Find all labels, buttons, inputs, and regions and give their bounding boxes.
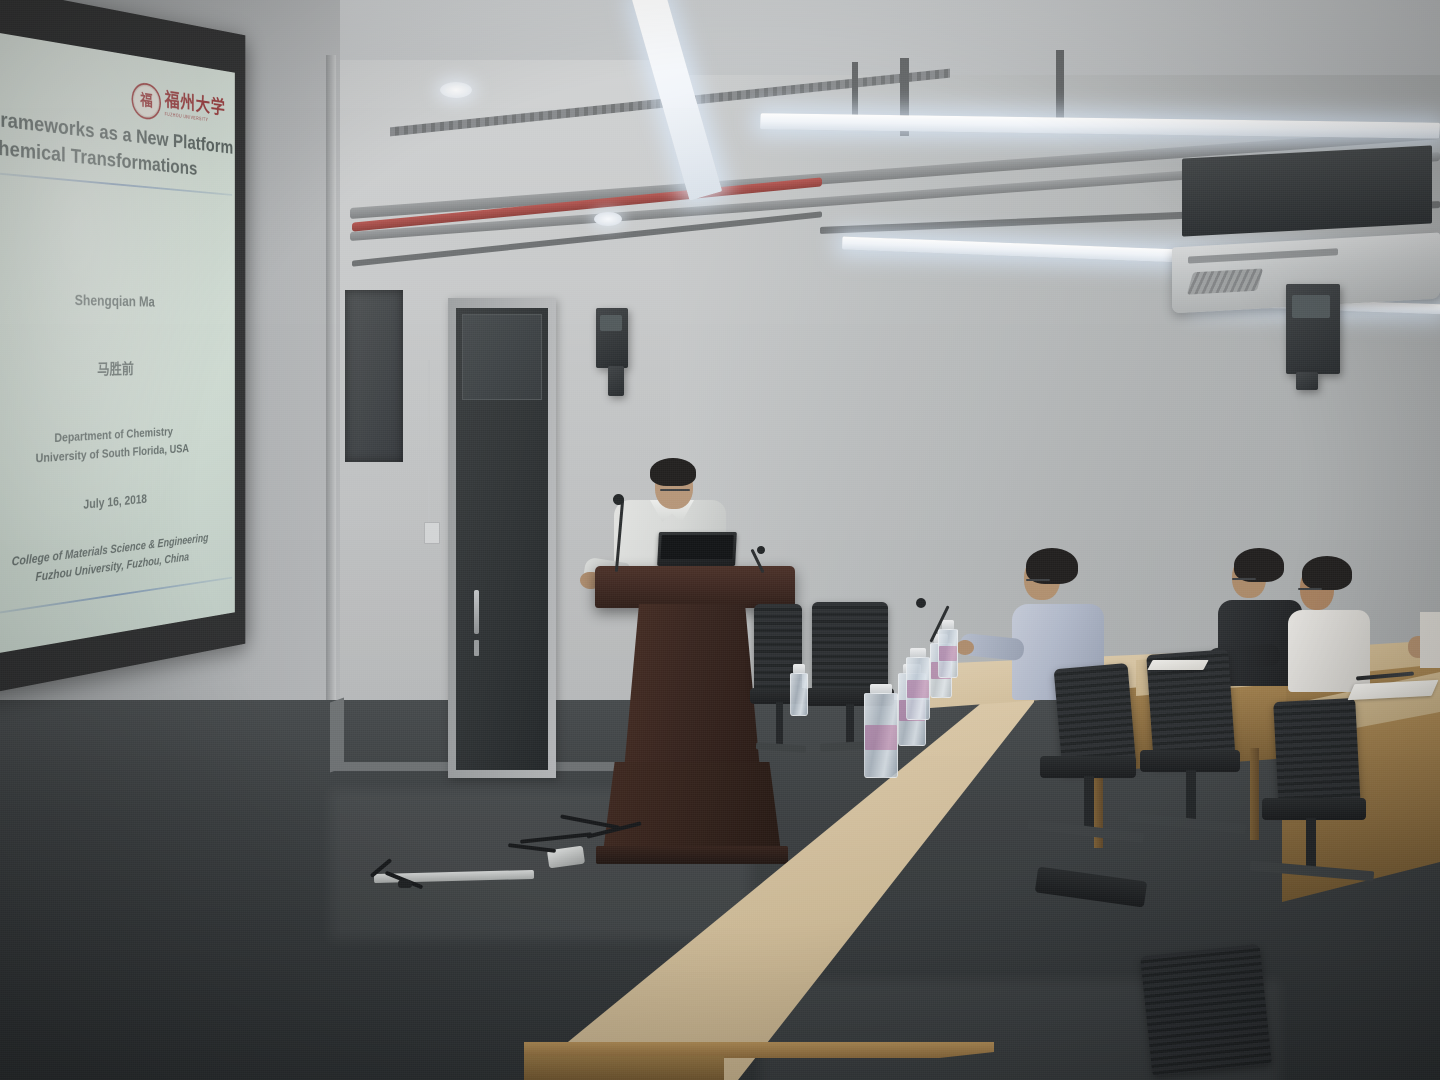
screen-surface: 福 福州大学 FUZHOU UNIVERSITY …nic Frameworks… [0,29,235,657]
notebook[interactable] [1147,660,1208,670]
lectern-top [595,566,795,608]
speaker-grill-icon [1292,295,1330,318]
door[interactable] [448,298,556,778]
wall-socket-plate [424,522,440,544]
audience-glasses-icon [1298,588,1322,590]
audience-glasses-icon [1232,578,1256,580]
table-front-panel [524,1056,724,1080]
laptop[interactable] [657,532,737,566]
water-bottle[interactable] [790,664,808,716]
bottle-label [939,646,957,661]
ceiling-downlight [594,212,622,226]
laptop-screen [660,535,733,559]
door-handle-icon[interactable] [474,590,479,634]
slide-host: College of Materials Science & Engineeri… [0,527,235,596]
chair-backrest [812,602,888,692]
water-bottle[interactable] [938,620,958,678]
microphone-head-icon [757,546,765,554]
ceiling-downlight [440,82,472,98]
wall-speaker [596,308,628,368]
projection-screen: 福 福州大学 FUZHOU UNIVERSITY …nic Frameworks… [0,0,245,697]
audience-hair [1234,548,1284,582]
water-bottle[interactable] [906,648,930,720]
slide-author-en: Shengqian Ma [0,290,235,312]
audience-hair [1302,556,1352,590]
wall-speaker [1286,284,1340,374]
speaker-bracket [1296,372,1318,390]
audience-torso [1420,612,1440,668]
window-recess [345,290,403,462]
chair-seat [1262,798,1366,820]
bottle-label [865,725,896,749]
fuzhou-university-logo: 福 福州大学 FUZHOU UNIVERSITY [132,81,226,130]
door-transom-window [462,314,542,400]
audience-glasses-icon [1026,579,1050,581]
speaker-bracket [608,366,624,396]
presenter-hair [650,458,696,486]
bottle-body [790,673,808,716]
microphone-head-icon [613,494,624,505]
lectern-column [624,604,760,770]
slide-date: July 16, 2018 [0,484,235,522]
presentation-slide: 福 福州大学 FUZHOU UNIVERSITY …nic Frameworks… [0,29,235,657]
microphone-head-icon [916,598,926,608]
lecture-hall-photo: 福 福州大学 FUZHOU UNIVERSITY …nic Frameworks… [0,0,1440,1080]
ac-vent-icon [1188,248,1338,263]
wall-cable [428,360,430,524]
bottle-label [907,680,929,699]
chair-seat [1040,756,1136,778]
chair-backrest [1273,698,1361,812]
seal-char: 福 [140,93,152,110]
ac-louvre-icon [1187,268,1263,294]
audience-hand [956,640,974,655]
slide-affiliation: Department of Chemistry University of So… [0,420,235,472]
cable-connector [398,880,412,888]
speaker-grill-icon [600,315,622,331]
lectern-plinth [596,846,788,864]
chair-seat [1140,750,1240,772]
table-leg [1250,748,1259,840]
door-lock-icon[interactable] [474,640,479,656]
presenter-glasses-icon [660,489,690,491]
ac-duct [1182,145,1432,236]
slide-author-cn: 马胜前 [0,355,235,381]
chair-backrest [1140,944,1272,1076]
seal-icon: 福 [132,81,161,121]
chair-post [776,702,783,748]
water-bottle[interactable] [864,684,898,778]
baseboard-right [330,697,344,772]
